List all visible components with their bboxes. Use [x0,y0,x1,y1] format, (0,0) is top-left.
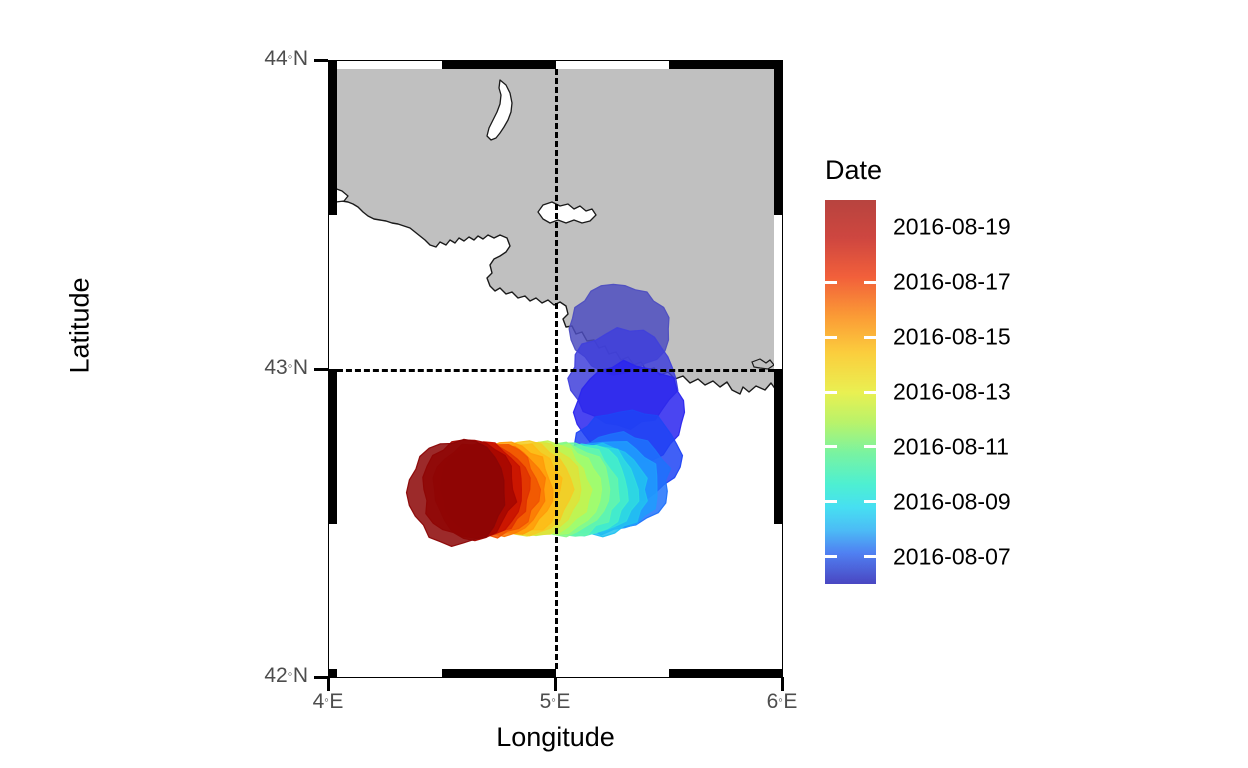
colorbar[interactable] [825,200,876,584]
colorbar-tickmark [825,500,837,503]
ticklabel-lat-42: 42◦N [200,664,308,688]
colorbar-tickmark [864,500,876,503]
colorbar-tickmark [825,445,837,448]
frame-right-block [774,524,783,679]
colorbar-tick-label: 2016-08-07 [893,543,1011,570]
colorbar-tickmark [864,336,876,339]
colorbar-tickmark [825,336,837,339]
frame-right-block [774,215,783,370]
frame-left-block [328,369,337,524]
frame-left-block [328,215,337,370]
degree-symbol-icon: ◦ [324,692,329,707]
frame-bottom-block [328,669,442,678]
colorbar-tick-label: 2016-08-17 [893,269,1011,296]
ticklabel-lat-44: 44◦N [200,47,308,71]
map-panel [328,60,783,678]
ticklabel-lon-4: 4◦E [283,690,373,714]
frame-bottom-block [669,669,783,678]
degree-symbol-icon: ◦ [288,49,293,64]
degree-symbol-icon: ◦ [551,692,556,707]
frame-top-block [669,60,783,69]
map-graphics [328,60,783,678]
colorbar-tick-label: 2016-08-15 [893,324,1011,351]
colorbar-tick-label: 2016-08-13 [893,379,1011,406]
colorbar-tickmark [864,391,876,394]
landmass-layer [328,60,783,394]
frame-bottom-block [442,669,556,678]
degree-symbol-icon: ◦ [778,692,783,707]
land-polygon [328,60,783,394]
ticklabel-lon-5: 5◦E [510,690,600,714]
frame-right-block [774,369,783,524]
tickmark-lon-4 [327,677,330,691]
colorbar-tickmark [864,281,876,284]
frame-corner [774,60,783,69]
colorbar-tickmark [825,281,837,284]
tickmark-lon-5 [554,677,557,691]
colorbar-tickmark [825,391,837,394]
y-axis-title: Latitude [65,186,96,466]
frame-bottom-block [556,669,670,678]
tickmark-lat-42 [314,676,328,679]
colorbar-tick-label: 2016-08-19 [893,214,1011,241]
x-axis-title: Longitude [328,722,783,753]
frame-left-block [328,524,337,679]
tickmark-lat-44 [314,59,328,62]
tickmark-lon-6 [781,677,784,691]
patch-layer [407,284,685,546]
colorbar-tick-label: 2016-08-11 [893,433,1009,460]
frame-left-block [328,60,337,215]
date-patch [407,439,505,546]
figure-canvas: 44◦N 43◦N 42◦N 4◦E 5◦E 6◦E Longitude Lat… [0,0,1248,768]
frame-right-block [774,60,783,215]
degree-symbol-icon: ◦ [288,358,293,373]
colorbar-tick-label: 2016-08-09 [893,488,1011,515]
frame-top-block [442,60,556,69]
degree-symbol-icon: ◦ [288,666,293,681]
colorbar-tickmark [864,555,876,558]
island-polygon [752,359,774,369]
tickmark-lat-43 [314,368,328,371]
frame-corner [328,60,337,69]
ticklabel-lat-43: 43◦N [200,356,308,380]
legend-title: Date [825,155,882,186]
colorbar-tickmark [864,445,876,448]
ticklabel-lon-6: 6◦E [737,690,827,714]
colorbar-tickmark [825,555,837,558]
map-plot-area [328,60,783,678]
frame-top-block [556,60,670,69]
frame-top-block [328,60,442,69]
